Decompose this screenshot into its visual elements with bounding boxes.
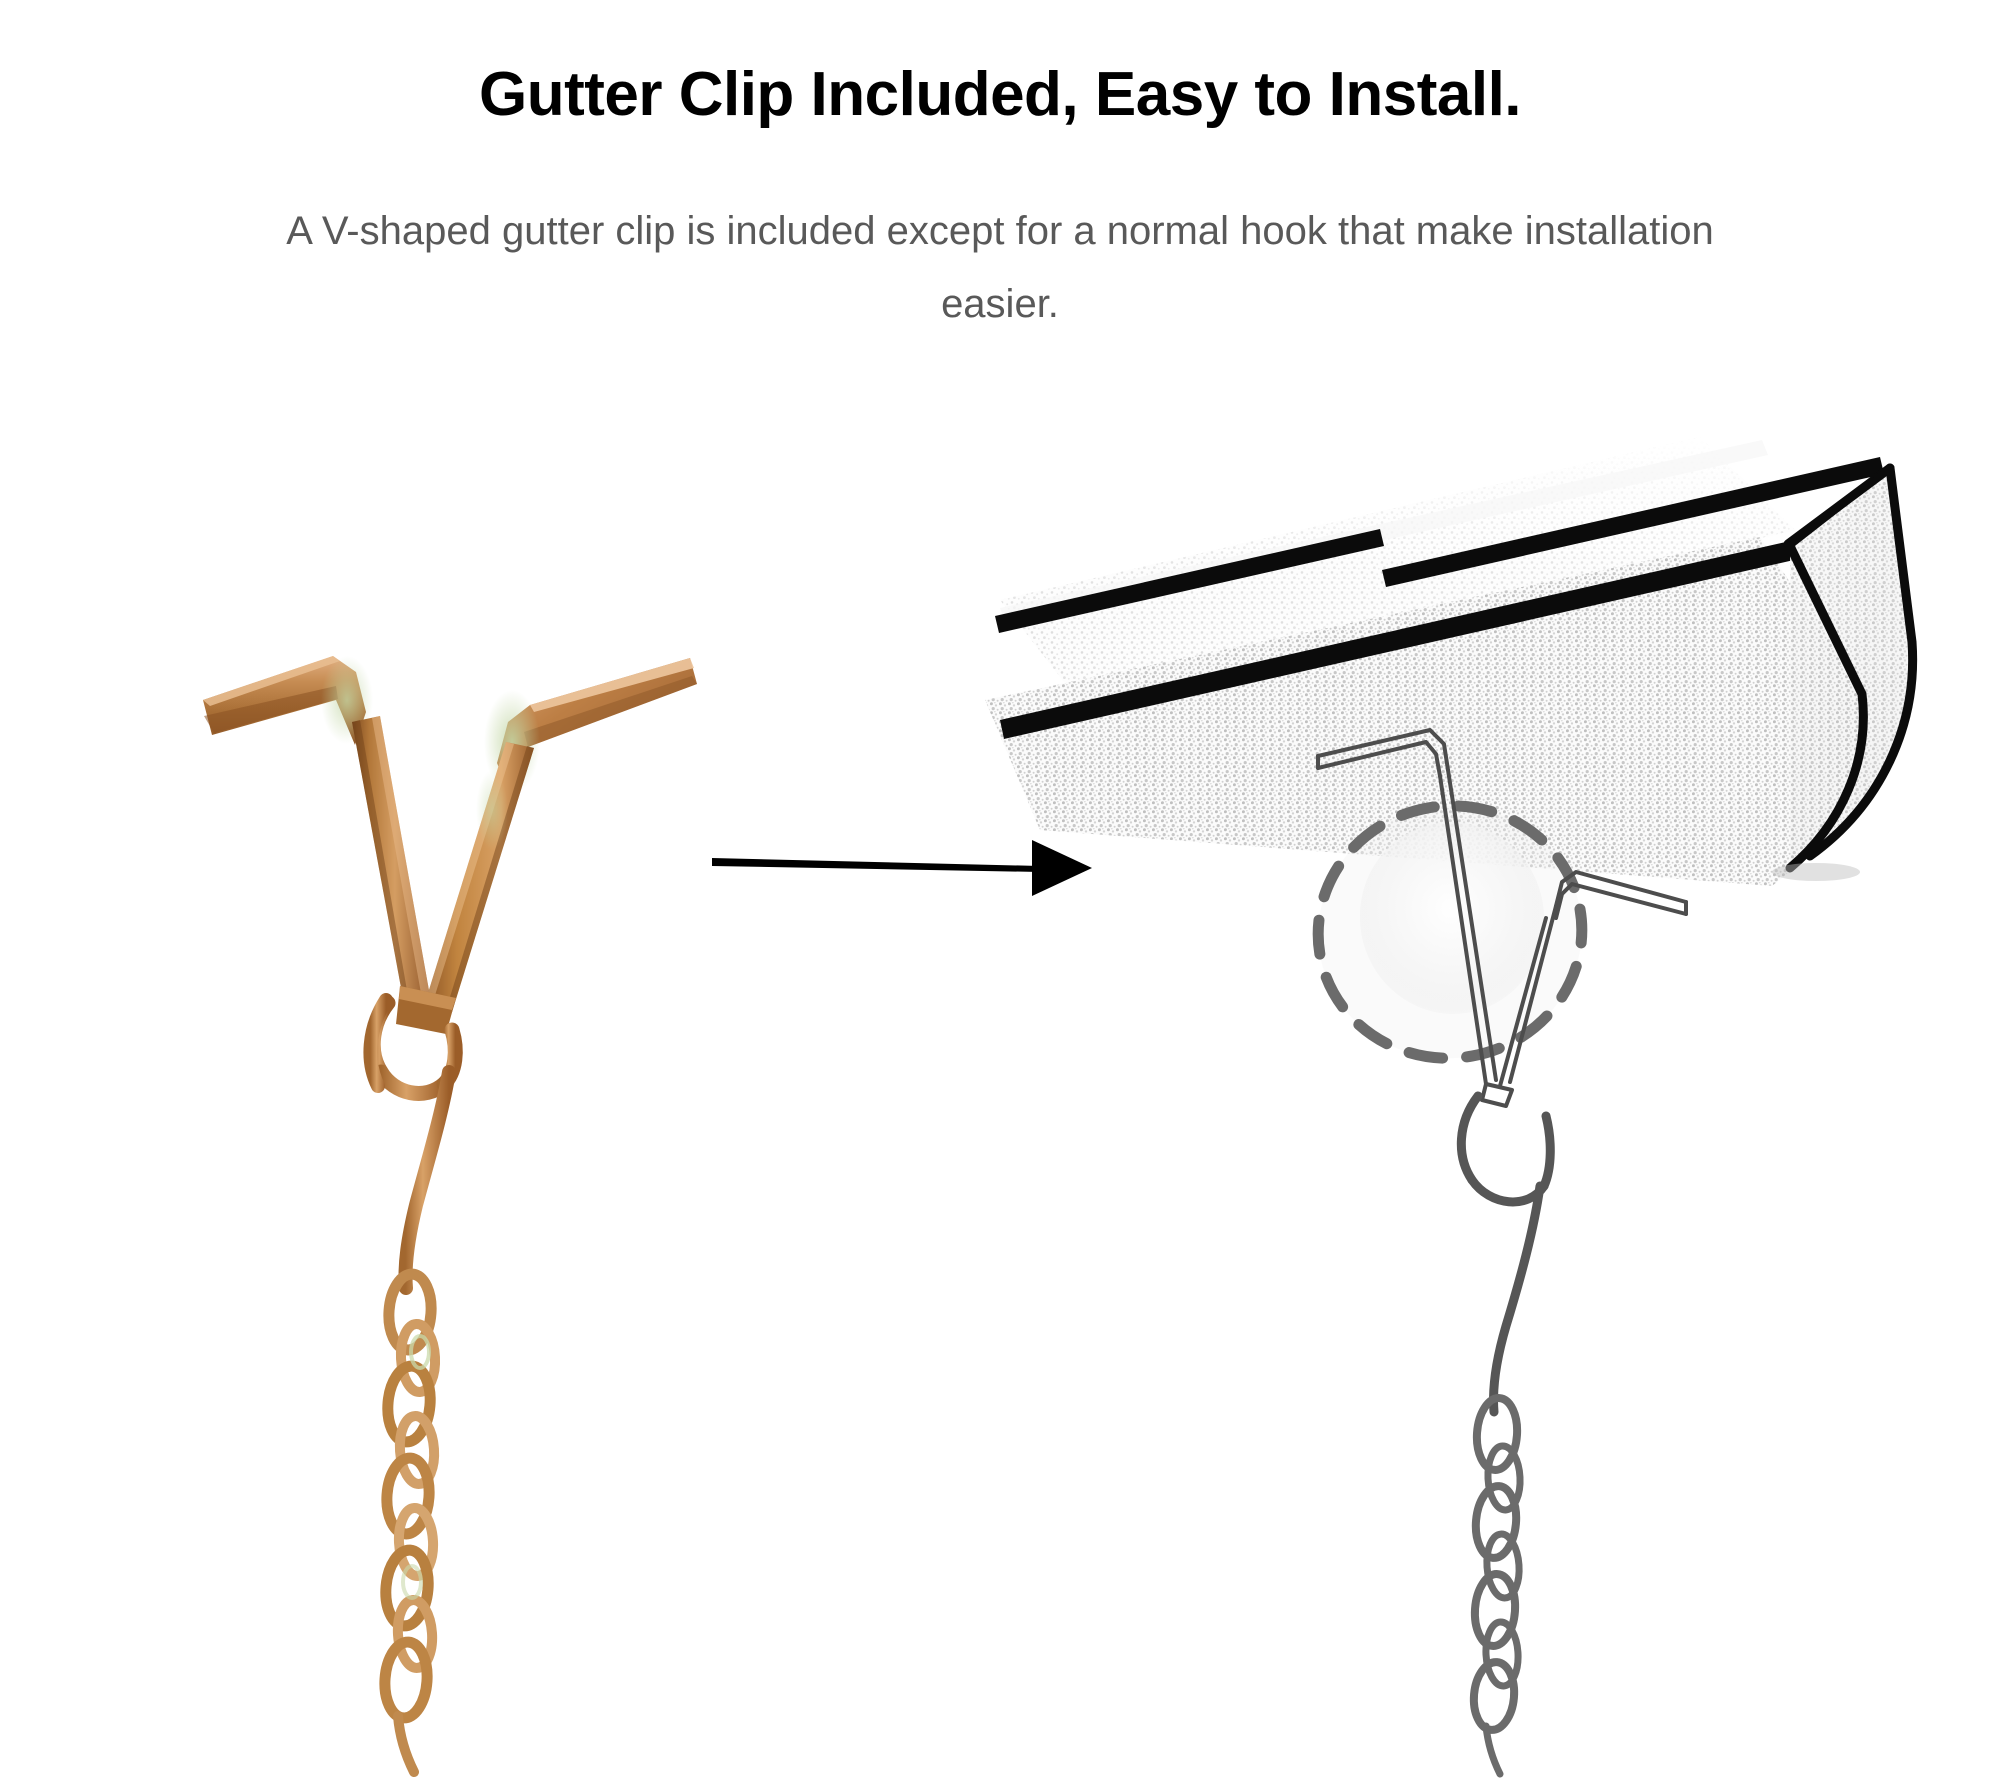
highlight-dashed-oval [1298, 785, 1602, 1079]
page-subtitle: A V-shaped gutter clip is included excep… [240, 195, 1760, 341]
clip-left-arm [203, 656, 373, 745]
copper-v-clip-photo [203, 656, 697, 1772]
clip-right-leg [424, 742, 534, 1012]
install-arrow [712, 840, 1092, 896]
clip-chain [382, 1273, 436, 1772]
gutter-installation-illustration [985, 437, 1913, 1774]
page-title: Gutter Clip Included, Easy to Install. [0, 62, 2000, 127]
clip-left-leg [352, 716, 430, 1004]
gutter-clip-hook-line-art [1461, 1096, 1550, 1412]
clip-s-hook [373, 1003, 455, 1093]
clip-right-arm [484, 658, 697, 800]
infographic-canvas: Gutter Clip Included, Easy to Install. A… [0, 0, 2000, 1778]
gutter-clip-chain-line-art [1471, 1397, 1522, 1774]
gutter-clip-line-art [1318, 730, 1686, 1106]
